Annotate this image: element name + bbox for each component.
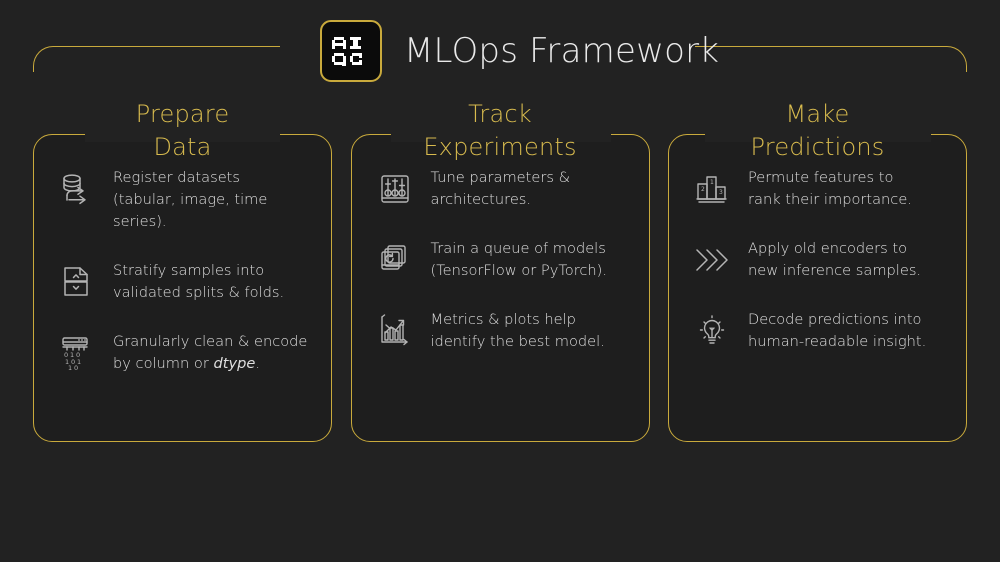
list-item-text: Stratify samples into validated splits &… — [113, 259, 284, 304]
list-item[interactable]: Metrics & plots help identify the best m… — [373, 308, 630, 353]
file-split-icon — [55, 260, 99, 304]
svg-text:0: 0 — [74, 364, 78, 372]
list-item-text: Decode predictions into human-readable i… — [748, 308, 926, 353]
list-item-text: Tune parameters & architectures. — [431, 166, 570, 211]
svg-text:1: 1 — [710, 179, 714, 186]
column-prepare-data: Prepare Data — [33, 98, 332, 443]
header-rule-right — [695, 46, 967, 72]
list-item-text: Apply old encoders to new inference samp… — [748, 237, 921, 282]
list-item-text: Granularly clean & encode by column or d… — [113, 330, 307, 375]
list-item[interactable]: 1 2 3 Permute features to rank their imp… — [690, 166, 947, 211]
queue-refresh-icon — [373, 238, 417, 282]
item-list-track-experiments: Tune parameters & architectures. — [351, 134, 650, 442]
chevrons-icon — [690, 238, 734, 282]
list-item-text: Train a queue of models (TensorFlow or P… — [431, 237, 608, 282]
infographic-root: MLOps Framework Prepare Data — [0, 0, 1000, 562]
header-rule-left — [33, 46, 280, 72]
svg-text:1: 1 — [68, 364, 72, 372]
list-item[interactable]: 010 101 10 Granularly clean & encode by … — [55, 330, 312, 375]
list-item[interactable]: Stratify samples into validated splits &… — [55, 259, 312, 304]
header: MLOps Framework — [0, 0, 1000, 98]
item-list-prepare-data: Register datasets (tabular, image, time … — [33, 134, 332, 442]
list-item[interactable]: Register datasets (tabular, image, time … — [55, 166, 312, 233]
column-track-experiments: Track Experiments T — [351, 98, 650, 443]
metrics-chart-icon — [373, 309, 417, 353]
sliders-icon — [373, 167, 417, 211]
aiqc-logo — [320, 20, 382, 82]
list-item-text: Metrics & plots help identify the best m… — [431, 308, 605, 353]
lightbulb-icon — [690, 309, 734, 353]
list-item[interactable]: Tune parameters & architectures. — [373, 166, 630, 211]
list-item[interactable]: Decode predictions into human-readable i… — [690, 308, 947, 353]
binary-columns-icon: 010 101 10 — [55, 331, 99, 375]
list-item-text: Permute features to rank their importanc… — [748, 166, 912, 211]
svg-text:2: 2 — [701, 186, 705, 193]
database-export-icon — [55, 167, 99, 211]
page-title: MLOps Framework — [404, 22, 719, 80]
column-make-predictions: Make Predictions 1 2 — [668, 98, 967, 443]
columns: Prepare Data — [0, 98, 1000, 448]
list-item[interactable]: Train a queue of models (TensorFlow or P… — [373, 237, 630, 282]
svg-text:3: 3 — [719, 189, 723, 196]
list-item[interactable]: Apply old encoders to new inference samp… — [690, 237, 947, 282]
item-list-make-predictions: 1 2 3 Permute features to rank their imp… — [668, 134, 967, 442]
list-item-text: Register datasets (tabular, image, time … — [113, 166, 312, 233]
footer: Reproducible Integrated database re — [0, 448, 1000, 562]
podium-icon: 1 2 3 — [690, 167, 734, 211]
